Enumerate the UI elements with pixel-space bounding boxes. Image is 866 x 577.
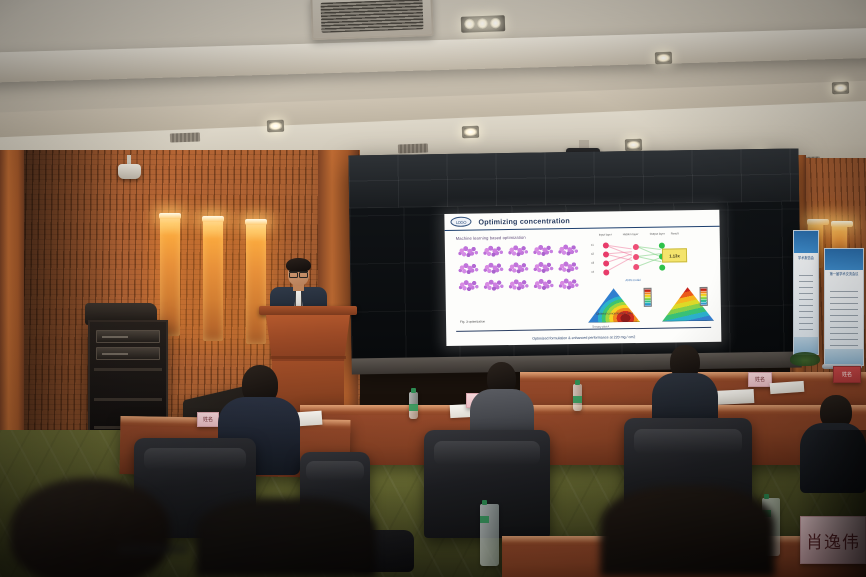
- foreground-glasses-icon: [118, 546, 188, 553]
- nn-input-label-3: x3: [591, 261, 594, 265]
- banner-title-1: 学术报告会: [798, 256, 814, 261]
- molecule-structure-grid: [457, 243, 580, 293]
- nn-node-hidden: [633, 254, 639, 260]
- banner-header-band: [825, 249, 863, 270]
- nn-caption: ANN model: [625, 278, 640, 282]
- nn-layer-label-result: Result: [671, 231, 679, 235]
- slide-title: Optimizing concentration: [478, 216, 570, 226]
- banner-body-text: [799, 275, 813, 334]
- rack-shelf-1: [94, 368, 162, 371]
- name-placard-back-1: 姓名: [748, 372, 772, 387]
- nn-layer-label-hidden: Hidden layer: [623, 232, 639, 236]
- banner-body-text: [830, 291, 858, 347]
- rack-shelf-2: [94, 398, 162, 401]
- slide-footnote-1: Fig. 3 optimization: [460, 319, 485, 323]
- wall-column-far-left: [0, 150, 24, 450]
- university-logo-icon: LOGO: [450, 217, 471, 227]
- led-video-wall: LOGO Optimizing concentration Machine le…: [348, 148, 801, 360]
- led-wall-upper-panels: [348, 148, 799, 208]
- molecule-thumbnail: [482, 278, 504, 292]
- molecule-thumbnail: [532, 277, 554, 291]
- banner-title-2: 第一届学术交流会议: [829, 272, 859, 277]
- molecule-thumbnail: [507, 244, 529, 258]
- standing-banner-1: 学术报告会: [793, 230, 819, 355]
- nn-edge: [605, 257, 632, 272]
- nn-node-input: [603, 242, 609, 248]
- nn-layer-label-input: Input layer: [599, 232, 612, 236]
- molecule-thumbnail: [507, 261, 529, 275]
- foreground-person-center: [196, 498, 376, 577]
- paper-document-1: [714, 389, 755, 405]
- ternary-axis-outline: [588, 288, 641, 323]
- ceiling-downlight-3: [267, 120, 284, 133]
- smoke-detector: [118, 164, 141, 179]
- decorative-plant: [790, 352, 820, 366]
- ceiling-downlight-4: [462, 126, 479, 139]
- name-placard-middle-1: 姓名: [197, 412, 219, 427]
- ceiling-downlight-5: [625, 139, 642, 152]
- water-bottle-2: [573, 384, 582, 411]
- neural-network-diagram: Input layer Hidden layer Output layer Re…: [595, 231, 688, 280]
- right-edge-shadow: [796, 430, 866, 577]
- molecule-thumbnail: [507, 278, 529, 292]
- ceiling-downlight-2: [832, 82, 849, 95]
- podium-trim: [270, 356, 346, 359]
- slide-footnote-2: Optimal concentration ratio: [596, 311, 633, 316]
- molecule-thumbnail: [532, 260, 554, 274]
- molecule-thumbnail: [457, 262, 479, 276]
- nn-node-input: [603, 269, 609, 275]
- water-bottle-1: [409, 392, 418, 419]
- slide-subtitle: Machine learning based optimization: [456, 235, 526, 241]
- standing-banner-2: 第一届学术交流会议: [824, 248, 864, 366]
- conference-room-photo: LOGO Optimizing concentration Machine le…: [0, 0, 866, 577]
- molecule-thumbnail: [482, 244, 504, 258]
- molecule-thumbnail: [482, 261, 504, 275]
- ceiling-ac-vent: [310, 0, 433, 40]
- presenter-hair: [286, 258, 311, 272]
- podium-top-surface: [259, 306, 357, 315]
- molecule-thumbnail: [557, 243, 579, 257]
- paper-document-2: [770, 381, 805, 394]
- nn-node-hidden: [633, 244, 639, 250]
- table-highlight: [300, 405, 866, 412]
- colorbar-ticks: [701, 288, 707, 305]
- banner-header-band: [794, 231, 818, 253]
- nn-input-label-1: x1: [591, 243, 594, 247]
- slide-body: Machine learning based optimization: [445, 227, 722, 346]
- nn-layer-label-output: Output layer: [650, 232, 665, 236]
- wall-light-column-2: [203, 219, 223, 341]
- nn-node-hidden: [633, 264, 639, 270]
- nn-input-label-2: x2: [591, 252, 594, 256]
- nn-node-input: [603, 251, 609, 257]
- molecule-thumbnail: [457, 245, 479, 259]
- banner-footer-band: [825, 349, 863, 365]
- ac-vent-grille: [321, 0, 424, 33]
- colorbar-1: [644, 288, 652, 307]
- ceiling-slot-vent-2: [398, 143, 428, 153]
- colorbar-2: [700, 287, 708, 306]
- water-bottle-foreground-2: [480, 504, 499, 566]
- table-middle: [300, 405, 866, 465]
- name-placard-back-2: 姓名: [833, 366, 861, 383]
- wall-light-column-1: [160, 216, 180, 336]
- triple-spotlight-fixture: [461, 15, 506, 33]
- slide-caption: Optimized formulation & enhanced perform…: [446, 334, 721, 342]
- foreground-person-left: [0, 478, 205, 577]
- foreground-head: [10, 478, 170, 577]
- podium-front-panel: [266, 315, 350, 361]
- ceiling-soffit: [0, 27, 866, 84]
- ternary-contour-plot-1: [588, 288, 641, 323]
- molecule-thumbnail: [532, 243, 554, 257]
- ceiling-slot-vent-1: [170, 132, 200, 142]
- rack-unit-2: [96, 347, 160, 360]
- nn-result-box: 1.13x: [662, 248, 687, 262]
- nn-input-label-4: x4: [591, 270, 594, 274]
- presenter-glasses-icon: [289, 271, 308, 275]
- presentation-slide: LOGO Optimizing concentration Machine le…: [444, 210, 721, 346]
- nn-node-input: [603, 260, 609, 266]
- colorbar-ticks: [645, 289, 651, 306]
- nn-node-output: [659, 265, 665, 271]
- ceiling-downlight-1: [655, 52, 672, 65]
- rack-unit-1: [96, 330, 160, 343]
- molecule-thumbnail: [557, 277, 579, 291]
- molecule-thumbnail: [457, 279, 479, 293]
- molecule-thumbnail: [557, 260, 579, 274]
- foreground-person-right: [600, 486, 775, 577]
- slide-divider: [456, 327, 711, 332]
